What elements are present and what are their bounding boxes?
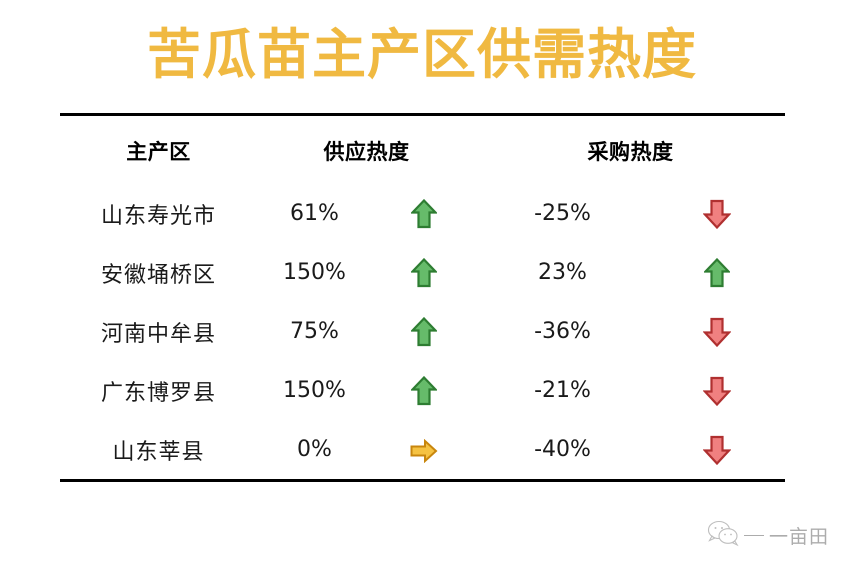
page-title: 苦瓜苗主产区供需热度 [0, 24, 844, 88]
cell-supply-trend [372, 420, 476, 481]
brand-watermark: 一亩田 [706, 512, 836, 558]
cell-region: 广东博罗县 [60, 361, 257, 420]
cell-purchase-value: -25% [476, 184, 649, 243]
cell-supply-value: 150% [257, 243, 372, 302]
down-arrow-red-icon [703, 435, 731, 465]
watermark-brand-label: 一亩田 [769, 522, 829, 549]
supply-demand-table: 主产区 供应热度 采购热度 山东寿光市61%-25%安徽埇桥区150%23%河南… [60, 113, 785, 482]
table-row: 山东寿光市61%-25% [60, 184, 785, 243]
down-arrow-red-icon [703, 317, 731, 347]
down-arrow-red-icon [703, 376, 731, 406]
cell-region: 山东寿光市 [60, 184, 257, 243]
up-arrow-green-icon [411, 317, 437, 347]
up-arrow-green-icon [704, 258, 730, 288]
cell-region: 山东莘县 [60, 420, 257, 481]
column-header-supply: 供应热度 [257, 115, 476, 185]
table-row: 安徽埇桥区150%23% [60, 243, 785, 302]
heat-table-container: 主产区 供应热度 采购热度 山东寿光市61%-25%安徽埇桥区150%23%河南… [60, 113, 785, 482]
up-arrow-green-icon [411, 199, 437, 229]
column-header-purchase: 采购热度 [476, 115, 785, 185]
cell-purchase-trend [649, 184, 785, 243]
cell-purchase-value: -40% [476, 420, 649, 481]
table-row: 广东博罗县150%-21% [60, 361, 785, 420]
down-arrow-red-icon [703, 199, 731, 229]
cell-purchase-value: -36% [476, 302, 649, 361]
table-row: 河南中牟县75%-36% [60, 302, 785, 361]
up-arrow-green-icon [411, 258, 437, 288]
cell-supply-value: 61% [257, 184, 372, 243]
table-header-row: 主产区 供应热度 采购热度 [60, 115, 785, 185]
cell-purchase-value: 23% [476, 243, 649, 302]
table-header: 主产区 供应热度 采购热度 [60, 115, 785, 185]
cell-purchase-trend [649, 243, 785, 302]
cell-supply-value: 0% [257, 420, 372, 481]
watermark-divider [744, 535, 764, 536]
cell-purchase-trend [649, 361, 785, 420]
cell-purchase-trend [649, 420, 785, 481]
cell-region: 河南中牟县 [60, 302, 257, 361]
cell-region: 安徽埇桥区 [60, 243, 257, 302]
cell-supply-value: 75% [257, 302, 372, 361]
cell-supply-trend [372, 302, 476, 361]
cell-purchase-value: -21% [476, 361, 649, 420]
up-arrow-green-icon [411, 376, 437, 406]
table-body: 山东寿光市61%-25%安徽埇桥区150%23%河南中牟县75%-36%广东博罗… [60, 184, 785, 481]
cell-supply-trend [372, 184, 476, 243]
table-row: 山东莘县0%-40% [60, 420, 785, 481]
cell-purchase-trend [649, 302, 785, 361]
cell-supply-value: 150% [257, 361, 372, 420]
wechat-icon [706, 519, 742, 552]
right-arrow-yellow-icon [409, 439, 439, 463]
column-header-region: 主产区 [60, 115, 257, 185]
cell-supply-trend [372, 361, 476, 420]
cell-supply-trend [372, 243, 476, 302]
